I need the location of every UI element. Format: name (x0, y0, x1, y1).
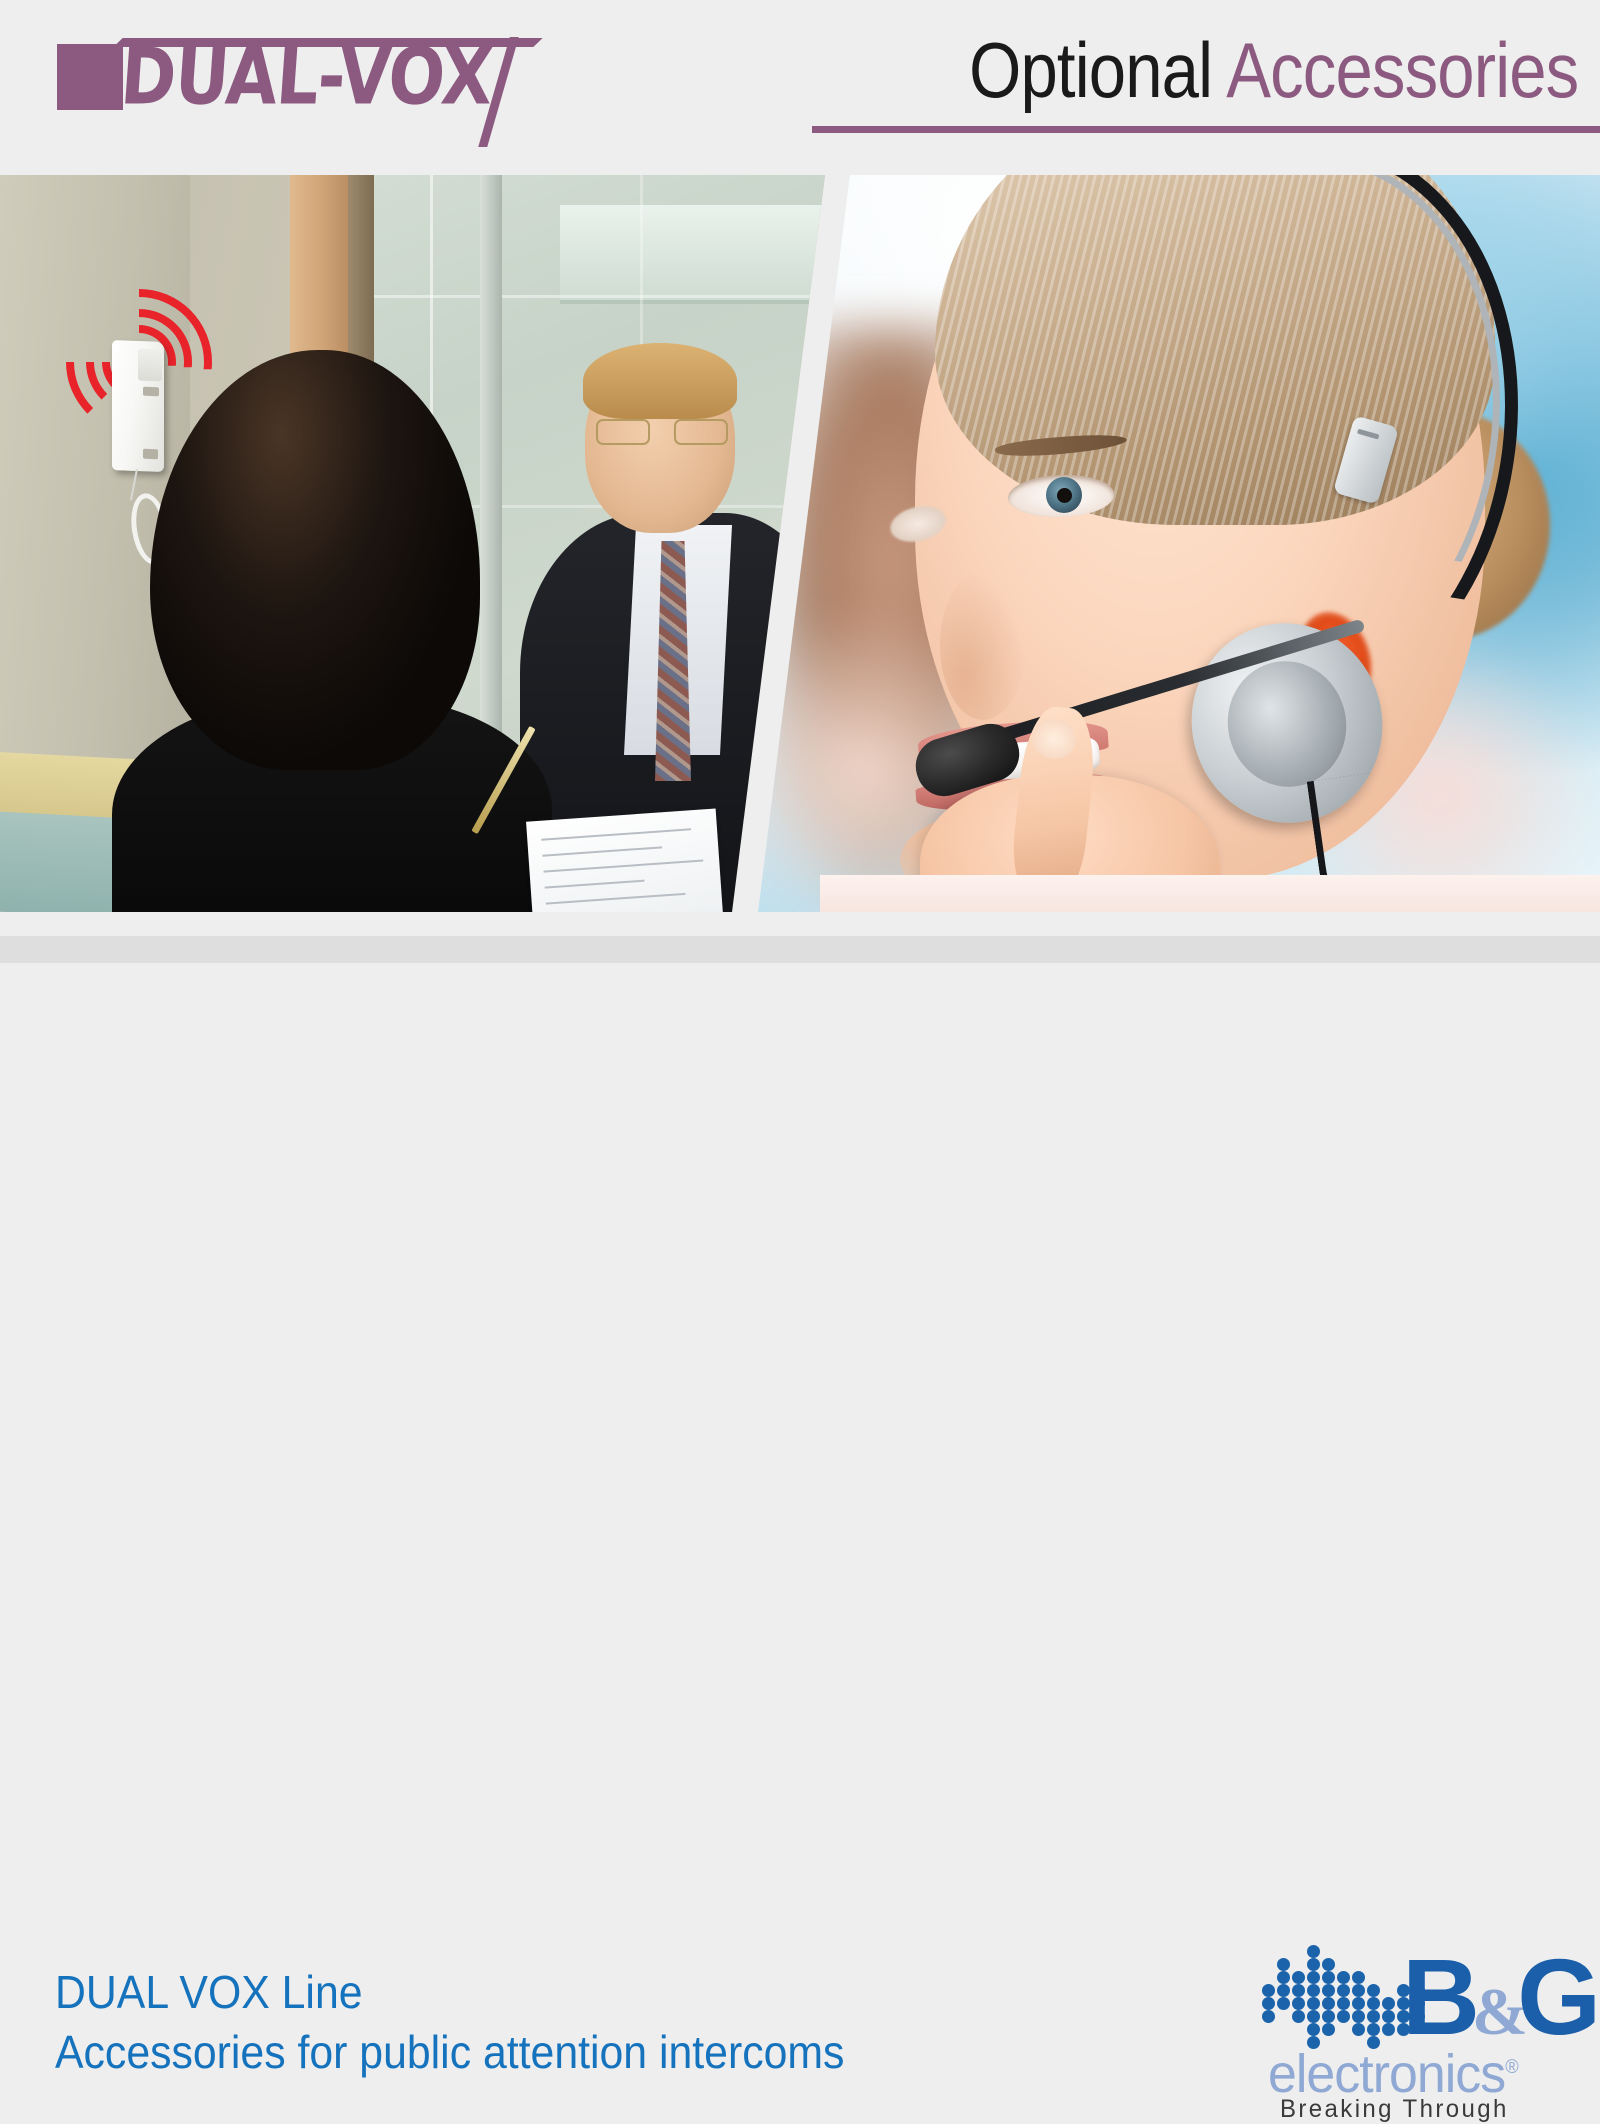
page-title-part-optional: Optional (969, 26, 1226, 114)
wall-intercom-handset (112, 341, 170, 476)
page-title-part-accessories: Accessories (1226, 26, 1578, 114)
photo-reception-intercom (0, 175, 830, 912)
operator-pupil (1057, 488, 1072, 503)
logo-top-bar-decoration (113, 38, 542, 47)
dual-vox-logo-mark-icon (57, 44, 123, 110)
page-header: DUAL-VOX Optional Accessories (0, 0, 1600, 175)
operator-shirt (820, 875, 1600, 912)
bg-logo-subtitle: electronics® (1268, 2041, 1518, 2101)
glass-mullion-horizontal-1 (372, 295, 830, 298)
page-title-underline (812, 126, 1600, 133)
footer-line-product: DUAL VOX Line (55, 1965, 363, 2019)
man-hair (583, 343, 737, 419)
glass-shelf (560, 205, 830, 304)
partition-post (480, 175, 502, 735)
slide-page: DUAL-VOX Optional Accessories (0, 0, 1600, 1200)
footer-line-description: Accessories for public attention interco… (55, 2025, 844, 2079)
page-footer: DUAL VOX Line Accessories for public att… (0, 963, 1600, 1200)
operator-nose (940, 570, 1026, 720)
document-paper (526, 809, 724, 912)
bg-electronics-logo: B&G electronics® Breaking Through (1262, 1943, 1582, 2088)
separator-band (0, 936, 1600, 963)
page-title: Optional Accessories (969, 28, 1578, 112)
man-eyeglasses (596, 419, 728, 441)
separator-gap (0, 912, 1600, 936)
bg-logo-ampersand: & (1472, 1975, 1524, 2049)
photo-headset-operator (740, 175, 1600, 912)
photo-band (0, 175, 1600, 912)
bg-logo-tagline: Breaking Through (1280, 2095, 1509, 2124)
dual-vox-logo: DUAL-VOX (57, 42, 492, 112)
dual-vox-logo-wordmark: DUAL-VOX (118, 40, 494, 114)
registered-mark-icon: ® (1505, 2057, 1517, 2078)
